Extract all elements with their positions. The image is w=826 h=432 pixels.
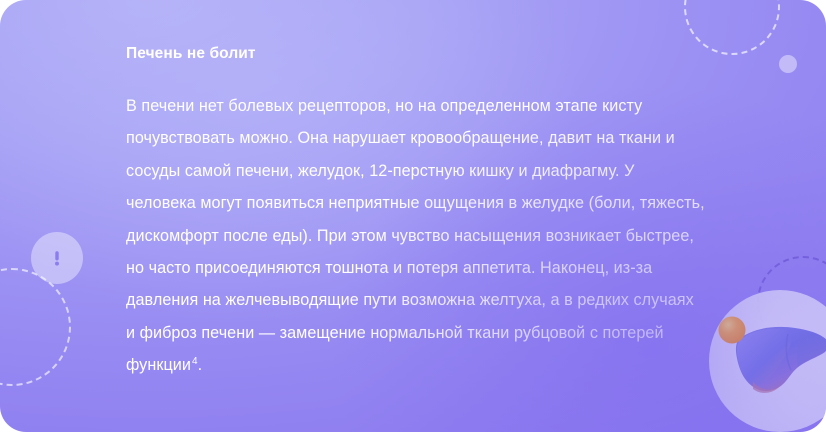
screenshot-root: Печень не болит В печени нет болевых рец…	[0, 0, 826, 432]
footnote-marker: 4	[191, 356, 198, 367]
card-content: Печень не болит В печени нет болевых рец…	[126, 44, 706, 382]
dashed-circle-bottom-right-icon	[757, 256, 826, 348]
info-card: Печень не болит В печени нет болевых рец…	[0, 0, 826, 432]
dashed-circle-left-icon	[0, 268, 71, 386]
body-paragraph: В печени нет болевых рецепторов, но на о…	[126, 90, 706, 382]
body-paragraph-text: В печени нет болевых рецепторов, но на о…	[126, 97, 705, 374]
liver-with-cyst-icon	[709, 290, 826, 432]
liver-illustration	[709, 290, 826, 432]
page-title: Печень не болит	[126, 44, 706, 64]
exclamation-icon	[46, 247, 68, 269]
decorative-dot-icon	[779, 55, 797, 73]
liver-disc-backdrop	[709, 290, 826, 432]
sentence-period: .	[198, 356, 203, 374]
exclamation-badge	[31, 232, 83, 284]
